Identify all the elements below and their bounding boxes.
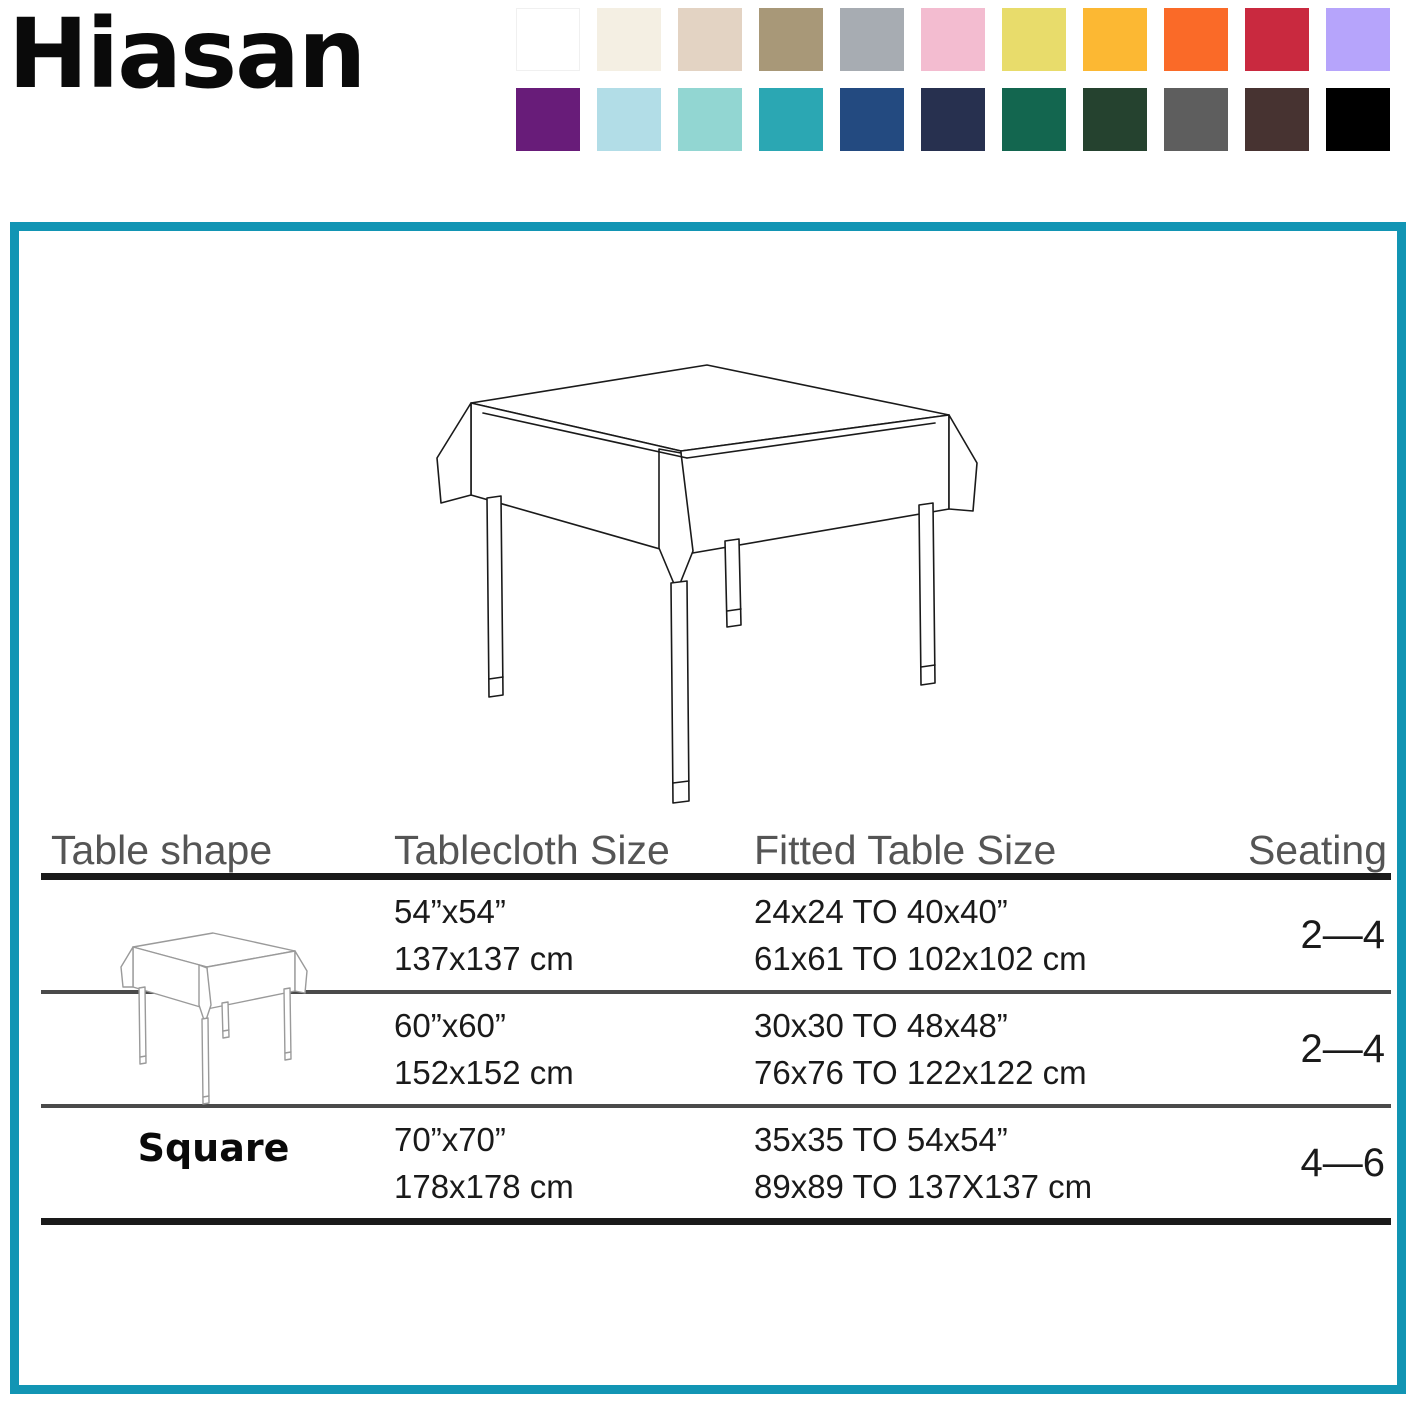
cloth-size-cm: 137x137 cm — [394, 942, 746, 975]
swatch-midnight[interactable] — [921, 88, 985, 151]
column-header-table-shape: Table shape — [41, 830, 386, 871]
swatch-aqua[interactable] — [678, 88, 742, 151]
swatch-marigold[interactable] — [1083, 8, 1147, 71]
swatch-taupe[interactable] — [759, 8, 823, 71]
cloth-size-inches: 60”x60” — [394, 1009, 746, 1042]
cloth-size-cm: 152x152 cm — [394, 1056, 746, 1089]
seating-capacity: 2—4 — [1216, 1029, 1391, 1069]
fitted-size-cm: 89x89 TO 137X137 cm — [754, 1170, 1216, 1203]
swatch-white[interactable] — [516, 8, 580, 71]
fitted-size-cm: 61x61 TO 102x102 cm — [754, 942, 1216, 975]
cloth-size-cm: 178x178 cm — [394, 1170, 746, 1203]
swatch-brown[interactable] — [1245, 88, 1309, 151]
swatch-red[interactable] — [1245, 8, 1309, 71]
swatch-row-2 — [516, 88, 1408, 151]
square-table-icon — [111, 917, 316, 1117]
swatch-blush-pink[interactable] — [921, 8, 985, 71]
swatch-orange[interactable] — [1164, 8, 1228, 71]
swatch-black[interactable] — [1326, 88, 1390, 151]
swatch-yellow[interactable] — [1002, 8, 1066, 71]
table-header-row: Table shape Tablecloth Size Fitted Table… — [41, 811, 1391, 873]
column-header-tablecloth-size: Tablecloth Size — [386, 830, 746, 871]
column-header-seating: Seating — [1216, 830, 1391, 871]
swatch-light-blue[interactable] — [597, 88, 661, 151]
product-infographic: Hiasan — [0, 0, 1416, 1402]
swatch-purple[interactable] — [516, 88, 580, 151]
brand-logo: Hiasan — [8, 6, 364, 102]
fitted-size-inches: 30x30 TO 48x48” — [754, 1009, 1216, 1042]
swatch-emerald[interactable] — [1002, 88, 1066, 151]
swatch-beige[interactable] — [678, 8, 742, 71]
table-shape-cell: Square — [41, 877, 386, 1207]
shape-label: Square — [138, 1129, 290, 1167]
swatch-silver-gray[interactable] — [840, 8, 904, 71]
seating-capacity: 2—4 — [1216, 915, 1391, 955]
swatch-navy-blue[interactable] — [840, 88, 904, 151]
cloth-size-inches: 70”x70” — [394, 1123, 746, 1156]
fitted-size-inches: 24x24 TO 40x40” — [754, 895, 1216, 928]
content-panel: Table shape Tablecloth Size Fitted Table… — [10, 222, 1406, 1394]
square-table-illustration — [419, 343, 989, 813]
column-header-fitted-table-size: Fitted Table Size — [746, 830, 1216, 871]
swatch-hunter-green[interactable] — [1083, 88, 1147, 151]
table-bottom-divider — [41, 1218, 1391, 1225]
fitted-size-cm: 76x76 TO 122x122 cm — [754, 1056, 1216, 1089]
swatch-lavender[interactable] — [1326, 8, 1390, 71]
seating-capacity: 4—6 — [1216, 1143, 1391, 1183]
swatch-row-1 — [516, 8, 1408, 71]
swatch-ivory[interactable] — [597, 8, 661, 71]
fitted-size-inches: 35x35 TO 54x54” — [754, 1123, 1216, 1156]
swatch-dark-gray[interactable] — [1164, 88, 1228, 151]
cloth-size-inches: 54”x54” — [394, 895, 746, 928]
swatch-teal[interactable] — [759, 88, 823, 151]
header-band: Hiasan — [0, 0, 1416, 200]
color-swatch-grid — [516, 8, 1408, 151]
